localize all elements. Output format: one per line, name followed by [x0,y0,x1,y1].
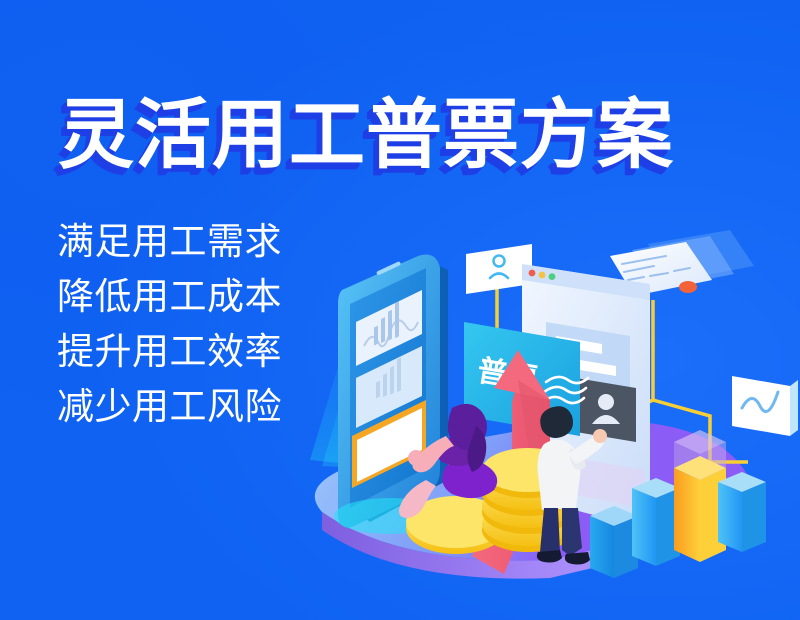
browser-dot-yellow [539,272,546,279]
illustration-scene: 普票 [250,230,800,620]
card-chip-icon [679,281,697,293]
iso-bar-2 [632,478,680,566]
headline-block: 灵活用工普票方案 [58,88,758,188]
page-title: 灵活用工普票方案 [58,88,674,184]
browser-dot-red [529,270,536,277]
iso-bar-4 [718,472,766,552]
line-chart-card [732,376,798,436]
poster-root: 灵活用工普票方案 满足用工需求 降低用工成本 提升用工效率 减少用工风险 [0,0,800,620]
browser-dot-green [549,273,556,280]
iso-bar-1 [590,506,638,578]
